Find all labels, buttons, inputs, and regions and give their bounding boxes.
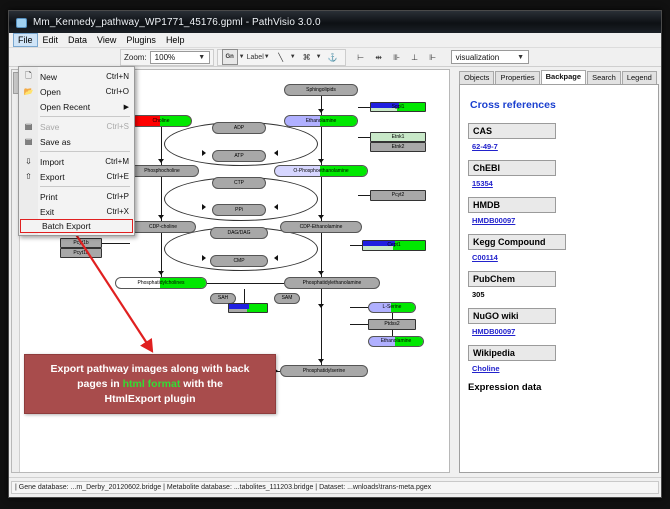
label-tool-label[interactable]: Label — [247, 54, 264, 61]
save-as-icon: ▤ — [19, 137, 38, 146]
xref-value-pubchem: 305 — [472, 290, 650, 299]
file-menu-item-save: ▤SaveCtrl+S — [19, 119, 134, 134]
menu-separator — [40, 151, 130, 152]
geneproduct-icon[interactable]: Gn — [222, 49, 238, 65]
file-menu-item-label: Save as — [38, 137, 129, 147]
callout-line-3: HtmlExport plugin — [105, 392, 196, 407]
align-top-icon[interactable]: ⊪ — [389, 49, 405, 65]
menu-view[interactable]: View — [92, 33, 121, 47]
zoom-value: 100% — [153, 53, 197, 62]
menu-file[interactable]: File — [13, 33, 38, 47]
file-menu-item-open[interactable]: 📂OpenCtrl+O — [19, 84, 134, 99]
xref-value-hmdb[interactable]: HMDB00097 — [472, 216, 650, 225]
line-tool-icon[interactable]: ╲ — [273, 49, 289, 65]
xref-database-cas: CAS — [468, 123, 556, 139]
chevron-down-icon[interactable]: ▼ — [316, 54, 322, 60]
status-bar: | Gene database: ...m_Derby_20120602.bri… — [9, 477, 661, 497]
file-menu-item-save-as[interactable]: ▤Save as — [19, 134, 134, 149]
chevron-down-icon[interactable]: ▼ — [239, 54, 245, 60]
save-icon: ▤ — [19, 122, 38, 131]
visualization-value: visualization — [454, 53, 516, 62]
callout-highlight: html format — [123, 378, 181, 390]
screenshot-root: Mm_Kennedy_pathway_WP1771_45176.gpml - P… — [0, 0, 670, 509]
application-window: Mm_Kennedy_pathway_WP1771_45176.gpml - P… — [8, 10, 662, 498]
align-middle-icon[interactable]: ⊥ — [407, 49, 423, 65]
tab-legend[interactable]: Legend — [622, 71, 657, 84]
xref-database-hmdb: HMDB — [468, 197, 556, 213]
zoom-label: Zoom: — [124, 53, 147, 62]
callout-line-2-pre: pages in — [77, 378, 123, 390]
menu-bar: File Edit Data View Plugins Help — [9, 33, 661, 48]
xref-value-chebi[interactable]: 15354 — [472, 179, 650, 188]
align-left-icon[interactable]: ⊢ — [353, 49, 369, 65]
xref-database-chebi: ChEBI — [468, 160, 556, 176]
zoom-combo[interactable]: 100% ▼ — [150, 51, 210, 64]
side-panel-tabs: Objects Properties Backpage Search Legen… — [452, 69, 659, 84]
callout-line-2: pages in html format with the — [77, 377, 223, 392]
new-file-icon: 🗋 — [19, 70, 38, 84]
panel-scrollbar[interactable] — [459, 85, 460, 472]
callout-line-2-post: with the — [180, 378, 223, 390]
menu-separator — [40, 186, 130, 187]
cross-references-title: Cross references — [470, 99, 650, 111]
file-menu-item-label: Save — [38, 122, 107, 132]
menu-accelerator: Ctrl+E — [107, 172, 134, 181]
menu-plugins[interactable]: Plugins — [121, 33, 161, 47]
expression-data-title: Expression data — [468, 382, 650, 393]
side-panel: Objects Properties Backpage Search Legen… — [452, 69, 659, 473]
xref-database-wikipedia: Wikipedia — [468, 345, 556, 361]
align-group: ⊢ ⇹ ⊪ ⊥ ⊩ — [349, 49, 445, 66]
anchor-tool-icon[interactable]: ⚓ — [325, 49, 341, 65]
file-menu-item-label: Exit — [38, 207, 107, 217]
xref-database-pubchem: PubChem — [468, 271, 556, 287]
toolbar: Zoom: 100% ▼ Gn ▼ Label ▼ ╲ ▼ ⌘ ▼ ⚓ ⊢ ⇹ — [9, 48, 661, 67]
file-menu-item-new[interactable]: 🗋NewCtrl+N — [19, 69, 134, 84]
menu-accelerator: Ctrl+O — [106, 87, 134, 96]
menu-data[interactable]: Data — [63, 33, 92, 47]
menu-accelerator: Ctrl+X — [107, 207, 134, 216]
file-menu-item-label: Import — [38, 157, 105, 167]
chevron-down-icon: ▼ — [516, 54, 526, 61]
file-menu-item-exit[interactable]: ExitCtrl+X — [19, 204, 134, 219]
file-menu-item-label: Export — [38, 172, 107, 182]
chevron-down-icon[interactable]: ▼ — [290, 54, 296, 60]
file-menu-dropdown[interactable]: 🗋NewCtrl+N📂OpenCtrl+OOpen Recent▶▤SaveCt… — [18, 66, 135, 236]
submenu-arrow-icon: ▶ — [124, 103, 134, 111]
file-menu-item-label: Print — [38, 192, 107, 202]
title-bar: Mm_Kennedy_pathway_WP1771_45176.gpml - P… — [9, 11, 661, 33]
callout-line-1: Export pathway images along with back — [51, 362, 250, 377]
xref-database-nugo: NuGO wiki — [468, 308, 556, 324]
tab-search[interactable]: Search — [587, 71, 621, 84]
align-center-icon[interactable]: ⇹ — [371, 49, 387, 65]
file-menu-item-print[interactable]: PrintCtrl+P — [19, 189, 134, 204]
xref-value-kegg[interactable]: C00114 — [472, 253, 650, 262]
file-menu-item-import[interactable]: ⇩ImportCtrl+M — [19, 154, 134, 169]
backpage-content: Cross references CAS 62-49-7 ChEBI 15354… — [459, 84, 659, 473]
annotation-callout: Export pathway images along with back pa… — [24, 354, 276, 414]
visualization-combo[interactable]: visualization ▼ — [451, 50, 529, 64]
menu-accelerator: Ctrl+N — [106, 72, 134, 81]
draw-tools-group: Gn ▼ Label ▼ ╲ ▼ ⌘ ▼ ⚓ — [217, 49, 346, 66]
xref-value-cas[interactable]: 62-49-7 — [472, 142, 650, 151]
zoom-group: Zoom: 100% ▼ — [120, 49, 214, 66]
menu-help[interactable]: Help — [161, 33, 190, 47]
xref-database-kegg: Kegg Compound — [468, 234, 566, 250]
menu-accelerator: Ctrl+S — [107, 122, 134, 131]
application-icon — [15, 16, 27, 28]
file-menu-item-label: Open — [38, 87, 106, 97]
window-title: Mm_Kennedy_pathway_WP1771_45176.gpml - P… — [33, 17, 321, 28]
folder-open-icon: 📂 — [19, 87, 38, 96]
tab-properties[interactable]: Properties — [495, 71, 539, 84]
xref-value-wikipedia[interactable]: Choline — [472, 364, 650, 373]
file-menu-item-batch-export[interactable]: Batch Export — [20, 219, 133, 233]
menu-separator — [40, 116, 130, 117]
menu-accelerator: Ctrl+M — [105, 157, 134, 166]
file-menu-item-export[interactable]: ⇧ExportCtrl+E — [19, 169, 134, 184]
file-menu-item-label: Batch Export — [40, 221, 127, 231]
tab-objects[interactable]: Objects — [459, 71, 494, 84]
chevron-down-icon[interactable]: ▼ — [264, 54, 270, 60]
xref-value-nugo[interactable]: HMDB00097 — [472, 327, 650, 336]
file-menu-item-label: New — [38, 72, 106, 82]
chevron-down-icon: ▼ — [197, 54, 207, 61]
align-stack-icon[interactable]: ⊩ — [425, 49, 441, 65]
menu-accelerator: Ctrl+P — [107, 192, 134, 201]
export-icon: ⇧ — [19, 172, 38, 181]
file-menu-item-open-recent[interactable]: Open Recent▶ — [19, 99, 134, 114]
menu-edit[interactable]: Edit — [38, 33, 64, 47]
tab-backpage[interactable]: Backpage — [541, 70, 586, 84]
file-menu-item-label: Open Recent — [38, 102, 124, 112]
interaction-tool-icon[interactable]: ⌘ — [299, 49, 315, 65]
import-icon: ⇩ — [19, 157, 38, 166]
status-text: | Gene database: ...m_Derby_20120602.bri… — [11, 481, 659, 494]
